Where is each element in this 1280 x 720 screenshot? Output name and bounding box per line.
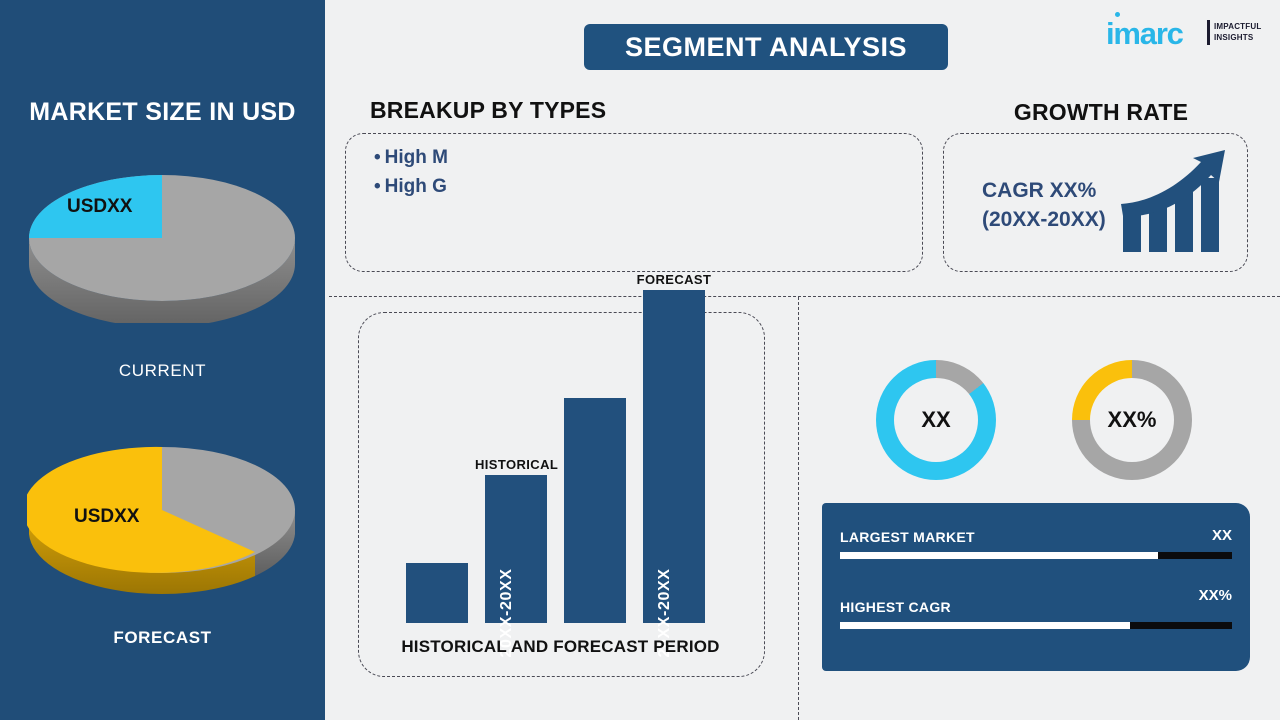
cagr-line-1: CAGR XX%	[982, 179, 1096, 202]
market-share-donut: XX%	[1072, 360, 1192, 480]
growth-rate-card: CAGR XX% (20XX-20XX)	[943, 133, 1248, 272]
logo-tagline-line2: INSIGHTS	[1214, 33, 1253, 42]
stat-progress-fill	[840, 622, 1130, 629]
logo-divider-icon	[1207, 20, 1210, 45]
historical-forecast-bar-chart: 20XX-20XX HISTORICAL 20XX-20XX FORECAST …	[358, 312, 763, 675]
imarc-logo: imarc IMPACTFUL INSIGHTS	[1106, 12, 1266, 54]
donut-hole: XX%	[1090, 378, 1174, 462]
logo-tagline: IMPACTFUL INSIGHTS	[1214, 21, 1261, 43]
table-row: 20XX-20XX	[485, 475, 547, 623]
stat-value: XX%	[1199, 587, 1232, 604]
donut-hole: XX	[894, 378, 978, 462]
stat-progress-track	[840, 622, 1232, 629]
logo-wordmark: imarc	[1106, 18, 1183, 49]
stat-progress-fill	[840, 552, 1158, 559]
current-pie-svg	[27, 168, 297, 323]
page-title: SEGMENT ANALYSIS	[625, 32, 907, 63]
list-item: •High M	[374, 143, 448, 172]
growth-arrow-bars-icon	[1119, 148, 1231, 256]
current-pie-caption: CURRENT	[0, 361, 325, 381]
cagr-line-2: (20XX-20XX)	[982, 208, 1106, 231]
bar-top-label: HISTORICAL	[475, 457, 557, 472]
bar-chart-axis-label: HISTORICAL AND FORECAST PERIOD	[358, 637, 763, 657]
market-size-panel: MARKET SIZE IN USD USDXX CURRENT	[0, 0, 325, 720]
stat-value: XX	[1212, 527, 1232, 544]
infographic-page: MARKET SIZE IN USD USDXX CURRENT	[0, 0, 1280, 720]
donut-value: XX	[921, 407, 950, 433]
stat-label: HIGHEST CAGR	[840, 599, 951, 615]
bullet-icon: •	[374, 176, 381, 197]
vertical-divider	[798, 297, 799, 720]
forecast-pie-chart	[27, 440, 297, 595]
table-row	[406, 563, 468, 623]
list-item-label: High G	[385, 176, 447, 197]
breakup-by-types-heading: BREAKUP BY TYPES	[370, 97, 606, 124]
list-item: •High G	[374, 172, 448, 201]
table-row: 20XX-20XX	[643, 290, 705, 623]
stat-progress-track	[840, 552, 1232, 559]
forecast-pie-svg	[27, 440, 297, 595]
market-size-title: MARKET SIZE IN USD	[0, 98, 325, 127]
table-row	[564, 398, 626, 623]
donut-value: XX%	[1108, 407, 1157, 433]
horizontal-divider	[329, 296, 1280, 297]
current-pie-chart	[27, 168, 297, 323]
list-item-label: High M	[385, 147, 448, 168]
cagr-text: CAGR XX% (20XX-20XX)	[982, 176, 1106, 234]
market-value-donut: XX	[876, 360, 996, 480]
forecast-pie-caption: FORECAST	[0, 628, 325, 648]
breakup-by-types-card: •High M •High G	[345, 133, 923, 272]
bullet-icon: •	[374, 147, 381, 168]
logo-tagline-line1: IMPACTFUL	[1214, 22, 1261, 31]
page-title-banner: SEGMENT ANALYSIS	[584, 24, 948, 70]
stat-label: LARGEST MARKET	[840, 529, 975, 545]
types-list: •High M •High G	[374, 143, 448, 201]
key-stats-panel: LARGEST MARKET XX HIGHEST CAGR XX%	[822, 503, 1250, 671]
growth-rate-heading: GROWTH RATE	[942, 99, 1260, 126]
bar-top-label: FORECAST	[634, 272, 714, 287]
